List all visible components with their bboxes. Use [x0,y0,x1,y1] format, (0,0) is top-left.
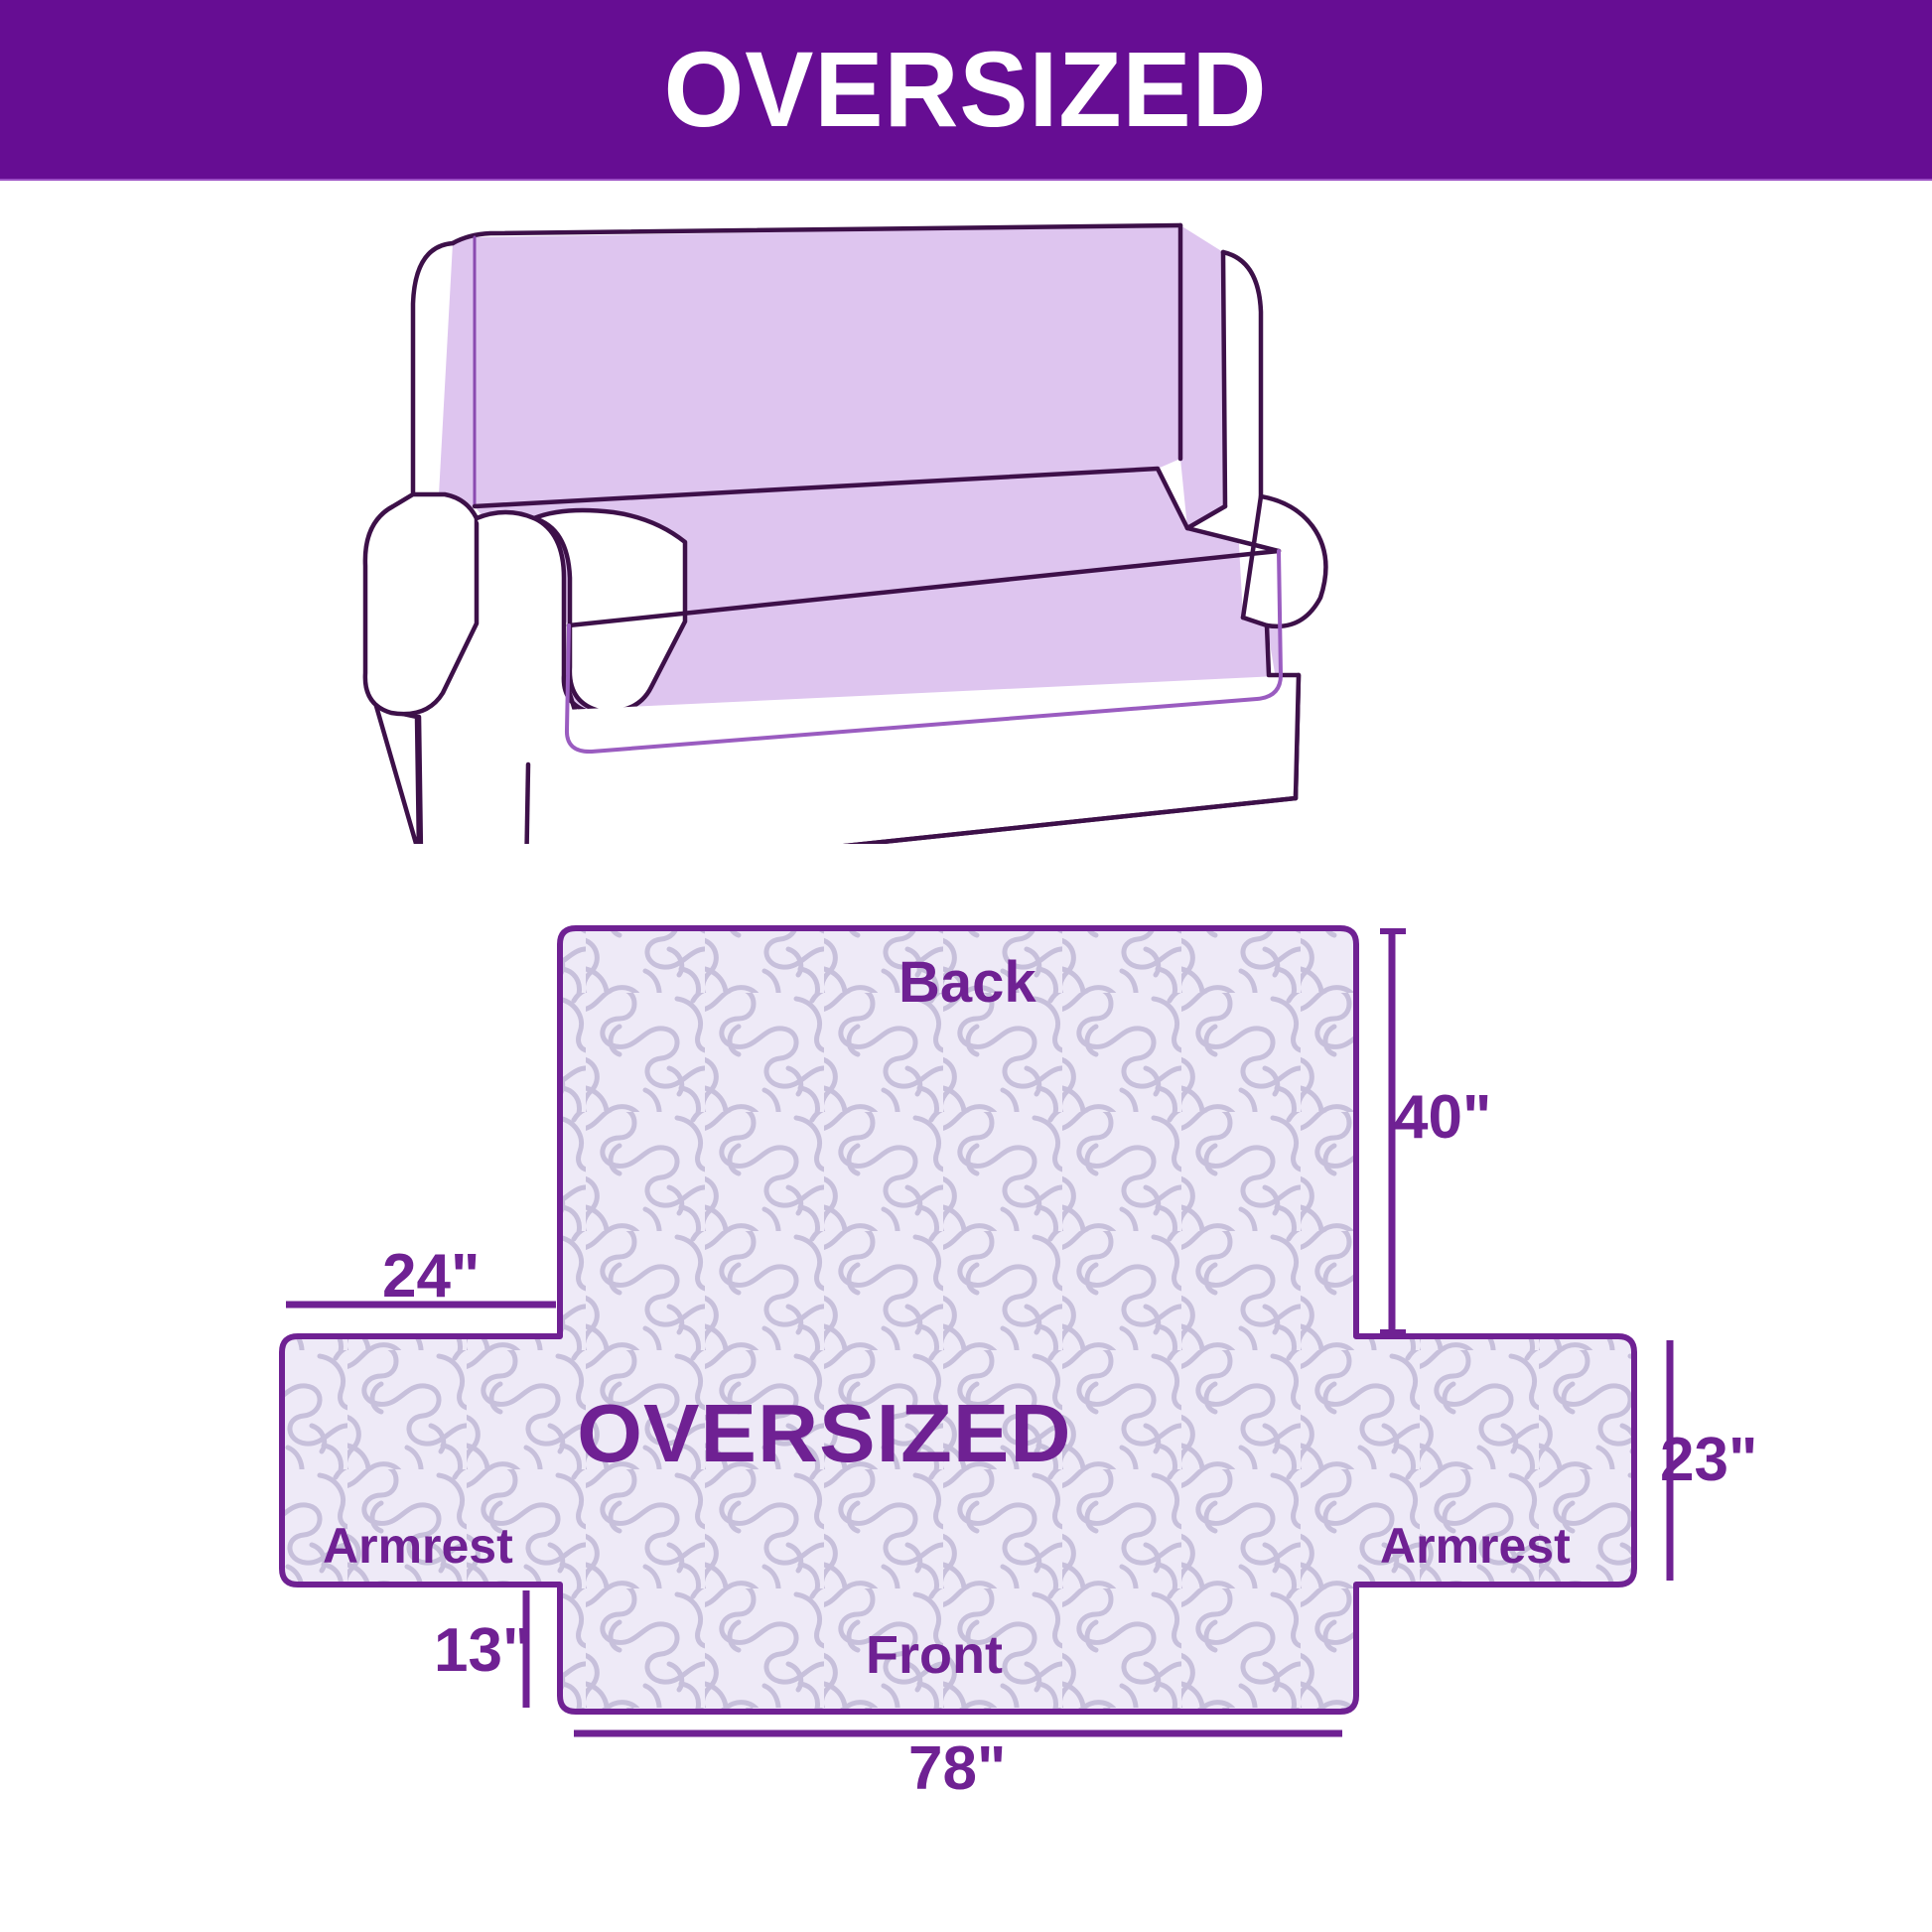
sofa-front-left-leg-edge [526,764,528,844]
header-banner: OVERSIZED [0,0,1932,179]
dimension-total-width: 78" [908,1738,1006,1800]
screenshot-canvas: OVERSIZED [0,0,1932,1932]
cover-outline-group [282,928,1634,1712]
sofa-seat-front-left-edge [567,625,569,730]
banner-title: OVERSIZED [664,36,1268,143]
sofa-illustration [357,208,1350,844]
cover-flat-diagram-svg [228,874,1718,1876]
label-oversized-center: OVERSIZED [577,1392,1071,1474]
cover-right-inner-arm-fill [1180,225,1225,528]
sofa-line-drawing-svg [357,208,1350,844]
dimension-armrest-height: 23" [1660,1430,1757,1491]
cover-cross-shape [282,928,1634,1712]
sofa-base [419,675,1299,844]
label-back: Back [898,954,1036,1012]
sofa-seat-front-right-edge [1279,551,1281,675]
label-front: Front [866,1628,1003,1682]
dimension-back-offset: 24" [382,1246,480,1308]
sofa-right-inner-arm-edge [1223,252,1225,506]
cover-back-fill [475,225,1180,506]
sofa-left-arm-roll-outer [365,494,477,714]
label-armrest-right: Armrest [1380,1521,1571,1571]
dimension-back-height: 40" [1394,1087,1491,1149]
label-armrest-left: Armrest [323,1521,513,1571]
dimension-front-drop: 13" [434,1620,531,1682]
cover-flat-diagram [228,874,1718,1876]
